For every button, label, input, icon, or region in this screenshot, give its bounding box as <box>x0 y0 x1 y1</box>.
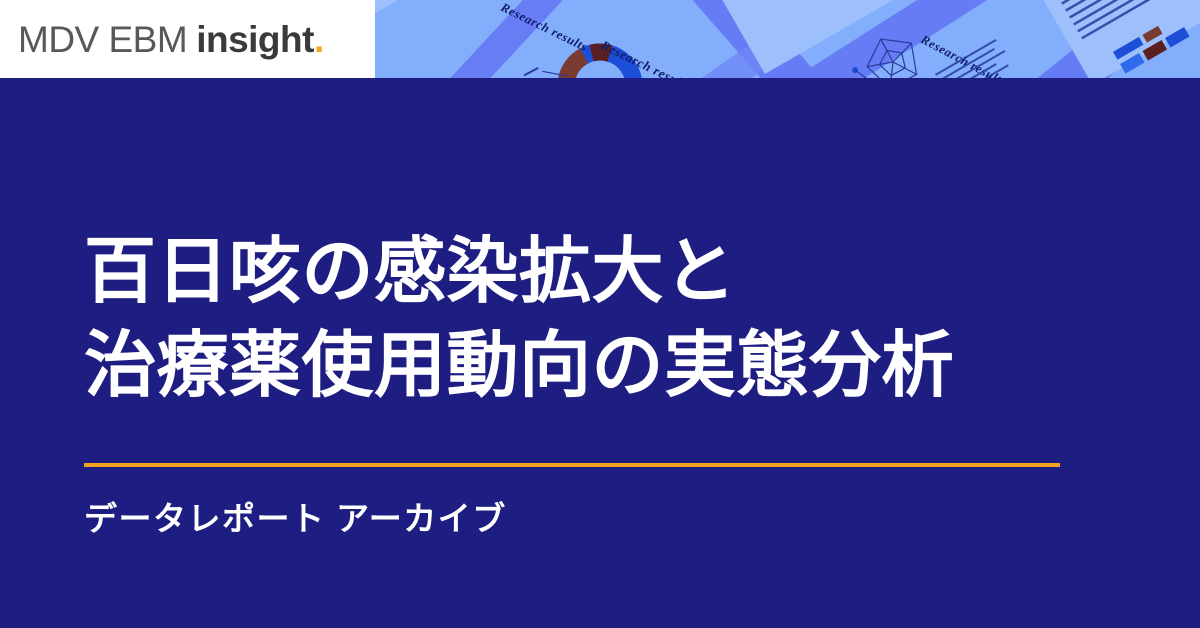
report-card: Research results <box>0 0 1200 628</box>
page-subtitle: データレポート アーカイブ <box>84 498 507 541</box>
page-title-line-1: 百日咳の感染拡大と <box>84 226 1144 320</box>
brand-logo-name: insight <box>196 19 314 60</box>
brand-logo-prefix: MDV EBM <box>18 19 187 60</box>
title-divider <box>84 463 1060 467</box>
brand-logo-text: MDV EBMinsight. <box>18 21 324 58</box>
page-title-line-2: 治療薬使用動向の実態分析 <box>84 320 1144 414</box>
banner-body: 百日咳の感染拡大と 治療薬使用動向の実態分析 データレポート アーカイブ <box>0 78 1200 628</box>
brand-logo-dot-icon: . <box>314 19 324 60</box>
brand-logo[interactable]: MDV EBMinsight. <box>0 0 375 78</box>
page-title: 百日咳の感染拡大と 治療薬使用動向の実態分析 <box>84 226 1144 413</box>
